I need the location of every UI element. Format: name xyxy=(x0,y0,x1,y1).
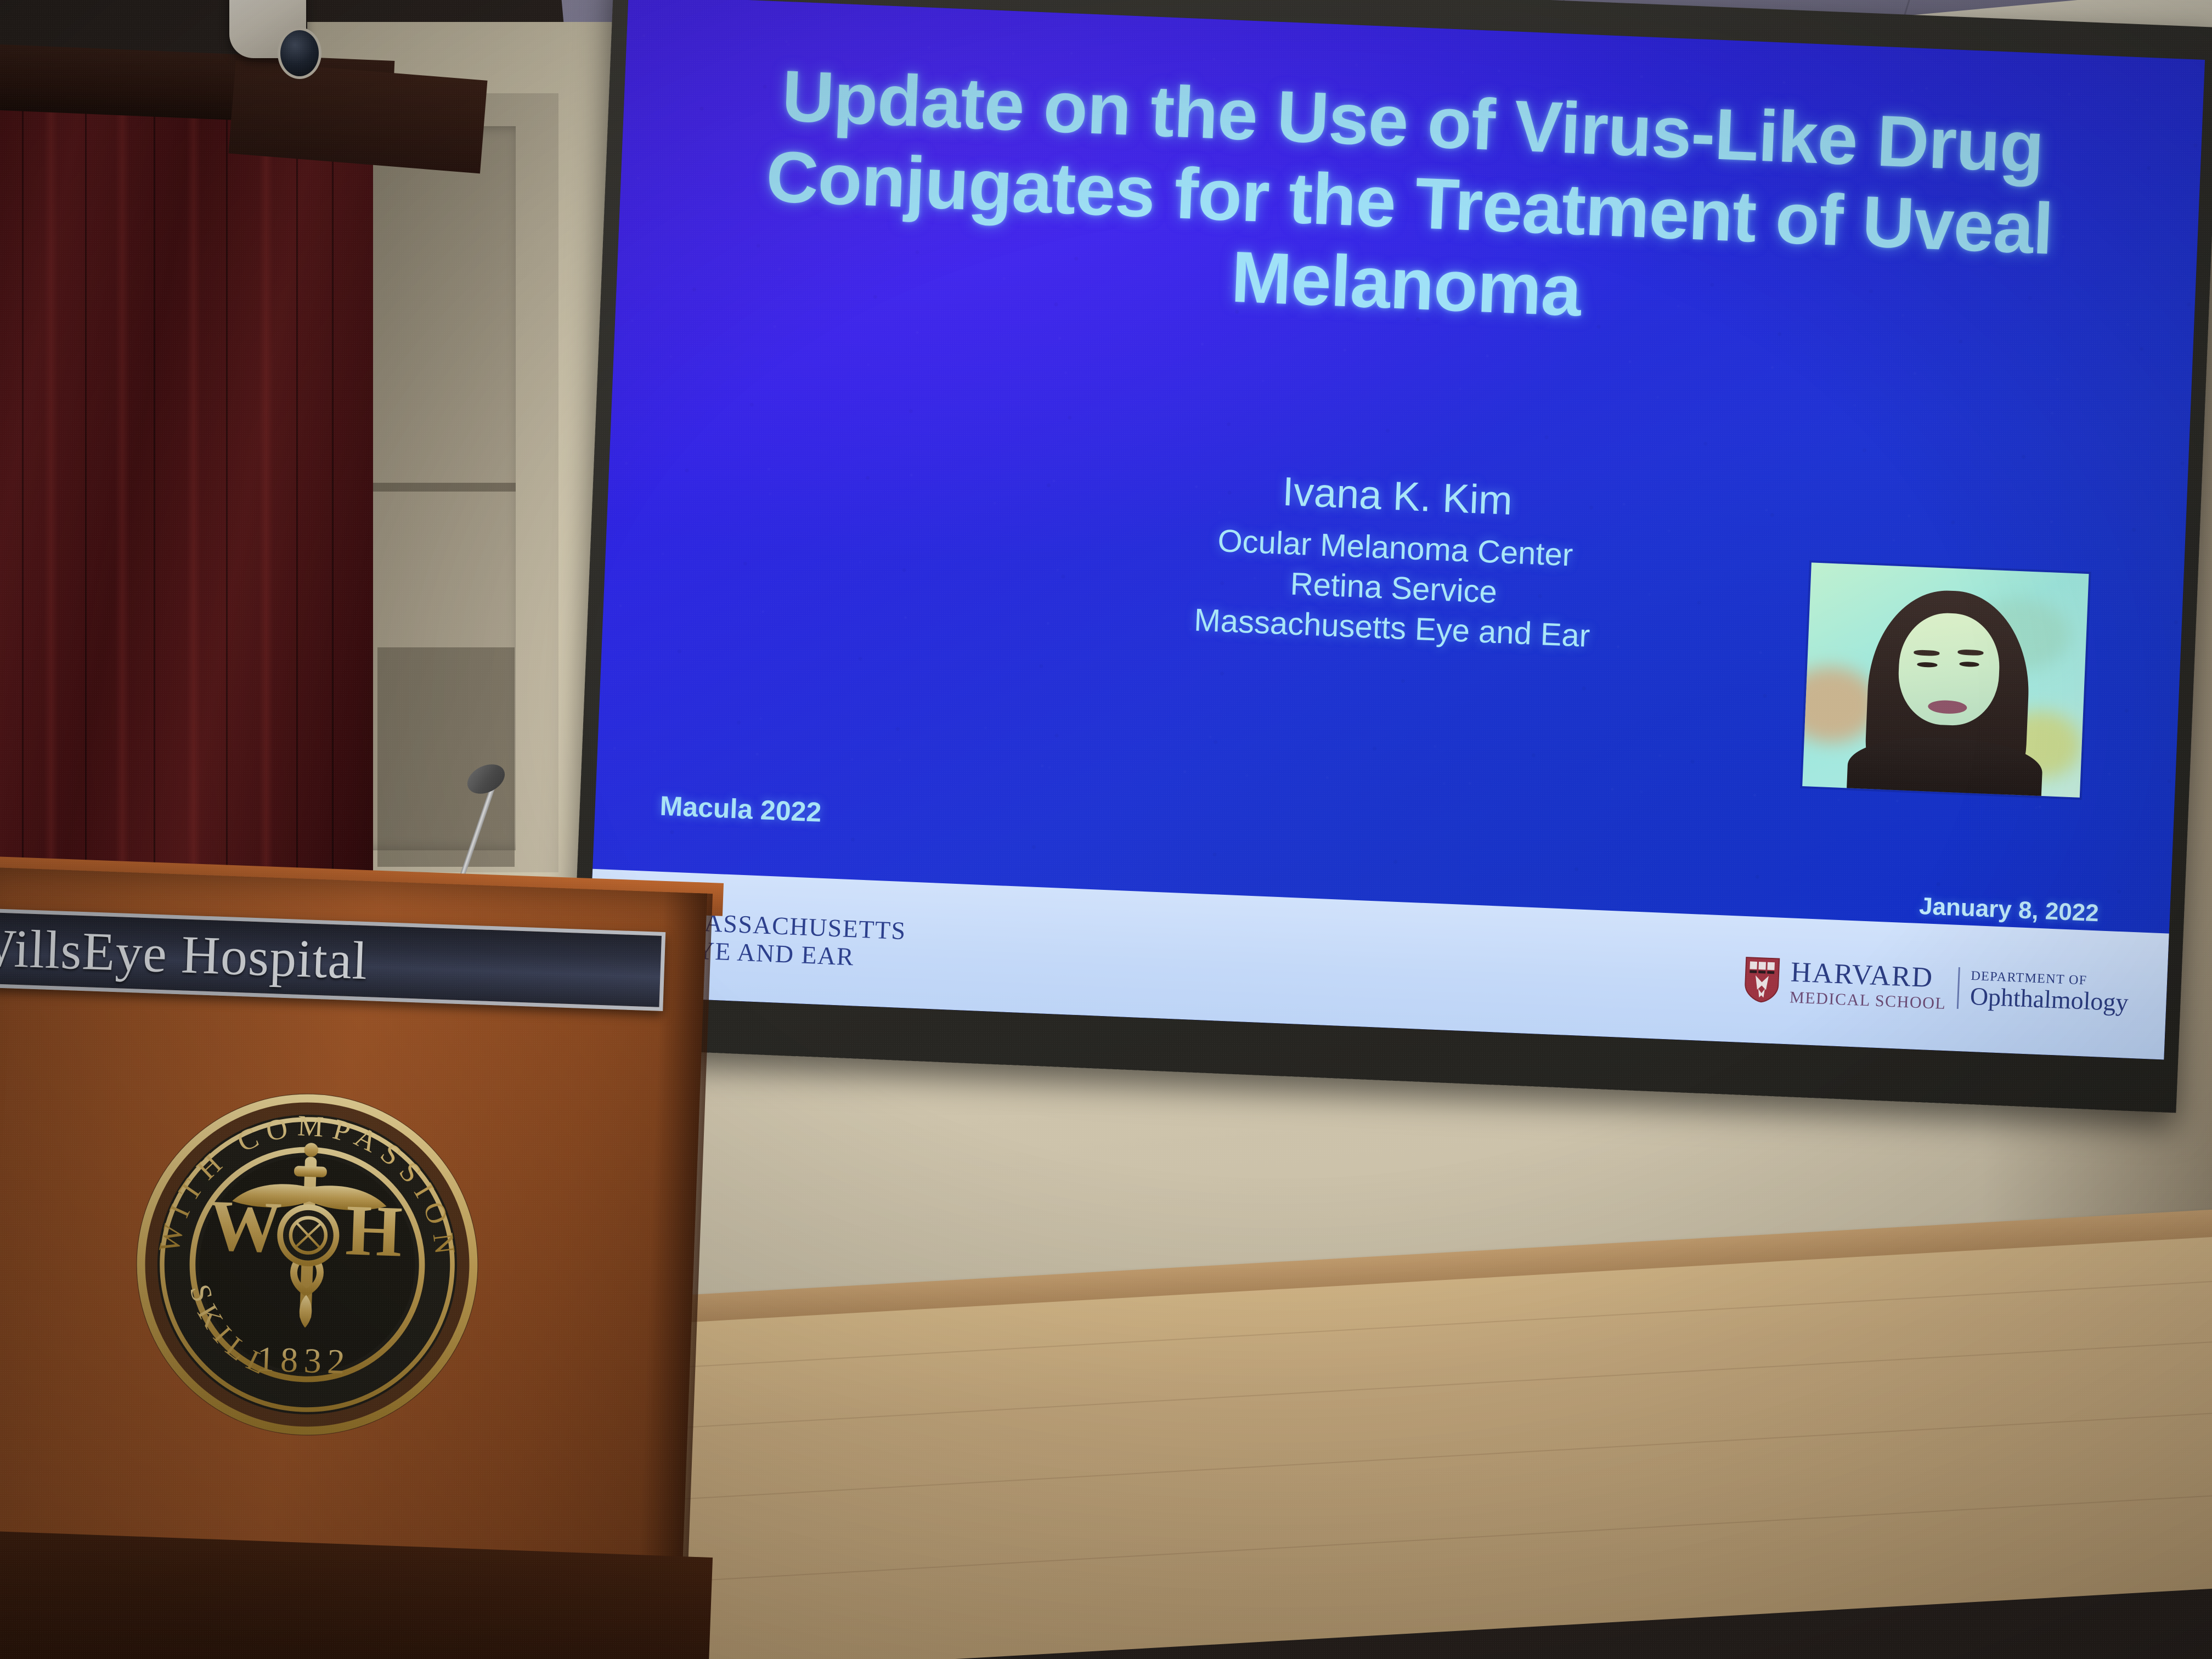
seal-graphic: WITH COMPASSION SKILL xyxy=(126,1083,489,1446)
stage-curtain xyxy=(0,66,373,955)
department-lockup: DEPARTMENT OF Ophthalmology xyxy=(1970,969,2130,1015)
seal-initial-right: H xyxy=(345,1189,404,1272)
event-label: Macula 2022 xyxy=(659,789,822,828)
screen-surface: Update on the Use of Virus-Like Drug Con… xyxy=(588,0,2205,1059)
speaker-video-thumbnail xyxy=(1802,562,2089,798)
author-block: Ivana K. Kim Ocular Melanoma Center Reti… xyxy=(1013,457,1776,664)
alcove-shelf xyxy=(351,483,516,492)
projection-screen: Update on the Use of Virus-Like Drug Con… xyxy=(570,0,2212,1113)
logo-divider xyxy=(1957,967,1960,1009)
security-camera xyxy=(218,0,317,86)
presentation-slide: Update on the Use of Virus-Like Drug Con… xyxy=(588,0,2205,1059)
hospital-seal: WITH COMPASSION SKILL xyxy=(126,1083,489,1446)
harvard-shield-icon xyxy=(1743,956,1780,1004)
seal-initial-left: W xyxy=(208,1184,283,1268)
venue-sign-text: WillsEye Hospital xyxy=(0,917,369,992)
mee-wordmark: MASSACHUSETTS EYE AND EAR xyxy=(679,907,906,973)
harvard-medical-school-logo: HARVARD MEDICAL SCHOOL DEPARTMENT OF Oph… xyxy=(1743,954,2130,1021)
dept-name: Ophthalmology xyxy=(1970,984,2129,1015)
camera-lens-icon xyxy=(278,27,321,79)
seal-year: 1832 xyxy=(256,1339,351,1381)
harvard-name: HARVARD xyxy=(1790,956,1948,995)
lecture-hall-photo: Update on the Use of Virus-Like Drug Con… xyxy=(0,0,2212,1659)
harvard-wordmark: HARVARD MEDICAL SCHOOL xyxy=(1789,956,1948,1013)
